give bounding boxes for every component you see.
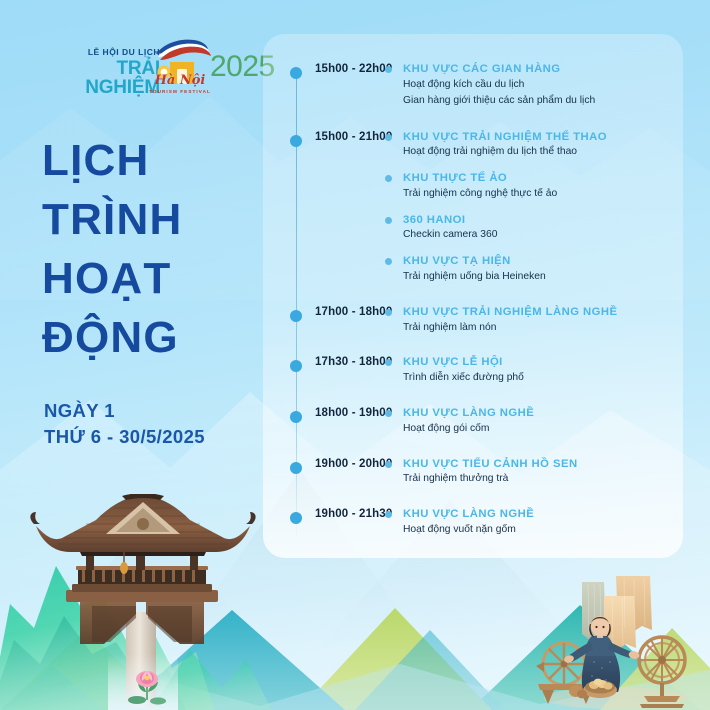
entry-time: 18h00 - 19h00 — [263, 406, 385, 420]
logo-wordmark: LỄ HỘI DU LỊCH TRẢI NGHIỆM — [38, 48, 160, 97]
page-title-line-1: LỊCH — [42, 132, 257, 191]
schedule-entry: 19h00 - 21h30KHU VỰC LÀNG NGHỀHoạt động … — [263, 507, 683, 538]
activity-title: KHU VỰC TRẢI NGHIỆM THỂ THAO — [403, 130, 675, 145]
entry-activity-list: KHU VỰC TRẢI NGHIỆM LÀNG NGHỀTrải nghiệm… — [385, 305, 683, 336]
event-date-label: THỨ 6 - 30/5/2025 — [44, 424, 205, 450]
activity-bullet-icon — [385, 175, 392, 182]
entry-time: 15h00 - 21h00 — [263, 130, 385, 144]
schedule-timeline: 15h00 - 22h00KHU VỰC CÁC GIAN HÀNGHoạt đ… — [263, 34, 683, 558]
logo-subtitle: TOURISM FESTIVAL — [148, 89, 212, 94]
activity-title: KHU VỰC TẠ HIỆN — [403, 254, 675, 269]
activity-bullet-icon — [385, 461, 392, 468]
festival-logo: LỄ HỘI DU LỊCH TRẢI NGHIỆM Hà Nội — [38, 44, 238, 98]
activity-item: KHU VỰC LÀNG NGHỀHoạt động vuốt nặn gốm — [385, 507, 675, 538]
timeline-dot-icon — [290, 360, 302, 372]
activity-item: KHU VỰC LÀNG NGHỀHoạt động gói cốm — [385, 406, 675, 437]
one-pillar-pagoda-illustration — [18, 494, 268, 710]
activity-bullet-icon — [385, 217, 392, 224]
activity-item: KHU THỰC TẾ ẢOTrải nghiệm công nghệ thực… — [385, 171, 675, 202]
activity-description-line: Trải nghiệm làm nón — [403, 321, 675, 336]
timeline-dot-icon — [290, 310, 302, 322]
activity-title: KHU VỰC TRẢI NGHIỆM LÀNG NGHỀ — [403, 305, 675, 320]
activity-bullet-icon — [385, 410, 392, 417]
schedule-entry: 17h30 - 18h00KHU VỰC LỄ HỘITrình diễn xi… — [263, 355, 683, 386]
page-title: LỊCH TRÌNH HOẠT ĐỘNG — [42, 132, 257, 368]
activity-title: KHU VỰC TIỂU CẢNH HỒ SEN — [403, 457, 675, 472]
logo-line-2: TRẢI NGHIỆM — [38, 59, 160, 97]
activity-item: 360 HANOICheckin camera 360 — [385, 213, 675, 244]
logo-city-name: Hà Nội — [150, 74, 210, 87]
entry-time: 17h00 - 18h00 — [263, 305, 385, 319]
event-date-block: NGÀY 1 THỨ 6 - 30/5/2025 — [44, 398, 205, 451]
activity-title: KHU VỰC LỄ HỘI — [403, 355, 675, 370]
entry-activity-list: KHU VỰC LỄ HỘITrình diễn xiếc đường phố — [385, 355, 683, 386]
entry-time: 19h00 - 21h30 — [263, 507, 385, 521]
silk-weaving-woman-illustration — [530, 568, 702, 710]
entry-time: 19h00 - 20h00 — [263, 457, 385, 471]
activity-title: KHU VỰC LÀNG NGHỀ — [403, 507, 675, 522]
entry-time: 15h00 - 22h00 — [263, 62, 385, 76]
activity-description-line: Hoạt động kích cầu du lịch — [403, 78, 675, 93]
activity-description-line: Trải nghiệm thưởng trà — [403, 472, 675, 487]
activity-bullet-icon — [385, 258, 392, 265]
schedule-entry: 17h00 - 18h00KHU VỰC TRẢI NGHIỆM LÀNG NG… — [263, 305, 683, 336]
activity-item: KHU VỰC LỄ HỘITrình diễn xiếc đường phố — [385, 355, 675, 386]
activity-title: KHU THỰC TẾ ẢO — [403, 171, 675, 186]
activity-item: KHU VỰC TIỂU CẢNH HỒ SENTrải nghiệm thưở… — [385, 457, 675, 488]
activity-description-line: Checkin camera 360 — [403, 228, 675, 243]
entry-activity-list: KHU VỰC TIỂU CẢNH HỒ SENTrải nghiệm thưở… — [385, 457, 683, 488]
activity-bullet-icon — [385, 309, 392, 316]
schedule-entry-list: 15h00 - 22h00KHU VỰC CÁC GIAN HÀNGHoạt đ… — [263, 62, 683, 558]
entry-activity-list: KHU VỰC LÀNG NGHỀHoạt động vuốt nặn gốm — [385, 507, 683, 538]
timeline-dot-icon — [290, 67, 302, 79]
logo-line-1: LỄ HỘI DU LỊCH — [38, 48, 160, 57]
activity-bullet-icon — [385, 66, 392, 73]
activity-item: KHU VỰC CÁC GIAN HÀNGHoạt động kích cầu … — [385, 62, 675, 109]
page-title-line-2: TRÌNH — [42, 191, 257, 250]
activity-title: 360 HANOI — [403, 213, 675, 228]
timeline-dot-icon — [290, 512, 302, 524]
page-title-line-3: HOẠT — [42, 250, 257, 309]
schedule-entry: 18h00 - 19h00KHU VỰC LÀNG NGHỀHoạt động … — [263, 406, 683, 437]
page-title-line-4: ĐỘNG — [42, 309, 257, 368]
activity-item: KHU VỰC TẠ HIỆNTrải nghiệm uống bia Hein… — [385, 254, 675, 285]
festival-schedule-poster: LỄ HỘI DU LỊCH TRẢI NGHIỆM Hà Nội — [0, 0, 710, 710]
entry-activity-list: KHU VỰC TRẢI NGHIỆM THỂ THAOHoạt động tr… — [385, 130, 683, 285]
schedule-card: 15h00 - 22h00KHU VỰC CÁC GIAN HÀNGHoạt đ… — [263, 34, 683, 558]
activity-bullet-icon — [385, 359, 392, 366]
activity-item: KHU VỰC TRẢI NGHIỆM LÀNG NGHỀTrải nghiệm… — [385, 305, 675, 336]
event-day-label: NGÀY 1 — [44, 398, 205, 424]
entry-activity-list: KHU VỰC LÀNG NGHỀHoạt động gói cốm — [385, 406, 683, 437]
activity-description-line: Trải nghiệm công nghệ thực tế ảo — [403, 187, 675, 202]
timeline-dot-icon — [290, 135, 302, 147]
activity-bullet-icon — [385, 134, 392, 141]
activity-description-line: Gian hàng giới thiệu các sản phẩm du lịc… — [403, 94, 675, 109]
activity-description-line: Hoạt động vuốt nặn gốm — [403, 523, 675, 538]
entry-time: 17h30 - 18h00 — [263, 355, 385, 369]
activity-description-line: Hoạt động gói cốm — [403, 422, 675, 437]
activity-description-line: Trải nghiệm uống bia Heineken — [403, 270, 675, 285]
activity-title: KHU VỰC LÀNG NGHỀ — [403, 406, 675, 421]
schedule-entry: 15h00 - 22h00KHU VỰC CÁC GIAN HÀNGHoạt đ… — [263, 62, 683, 109]
schedule-entry: 19h00 - 20h00KHU VỰC TIỂU CẢNH HỒ SENTrả… — [263, 457, 683, 488]
activity-item: KHU VỰC TRẢI NGHIỆM THỂ THAOHoạt động tr… — [385, 130, 675, 161]
activity-title: KHU VỰC CÁC GIAN HÀNG — [403, 62, 675, 77]
timeline-dot-icon — [290, 411, 302, 423]
activity-bullet-icon — [385, 511, 392, 518]
timeline-dot-icon — [290, 462, 302, 474]
activity-description-line: Hoạt động trải nghiệm du lịch thể thao — [403, 145, 675, 160]
entry-activity-list: KHU VỰC CÁC GIAN HÀNGHoạt động kích cầu … — [385, 62, 683, 109]
schedule-entry: 15h00 - 21h00KHU VỰC TRẢI NGHIỆM THỂ THA… — [263, 130, 683, 285]
activity-description-line: Trình diễn xiếc đường phố — [403, 371, 675, 386]
